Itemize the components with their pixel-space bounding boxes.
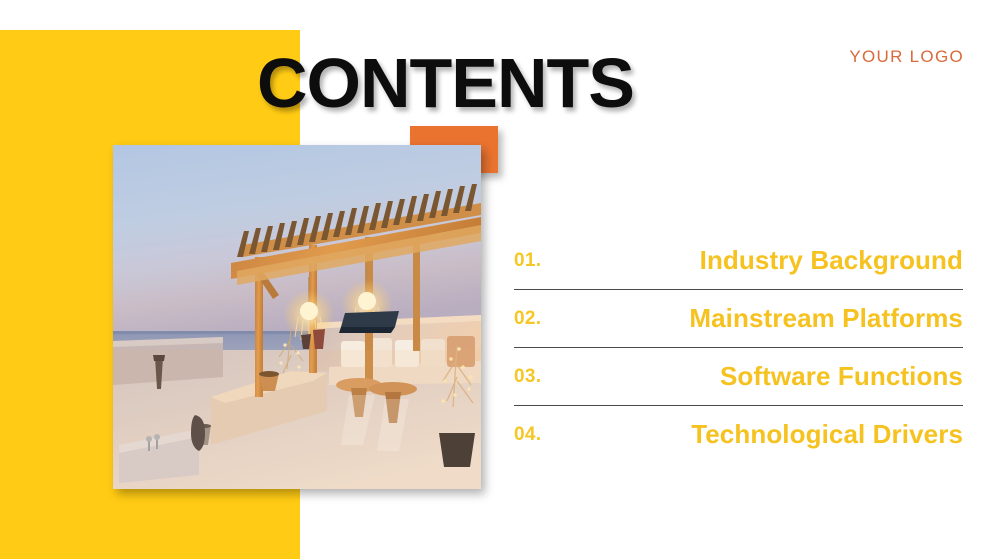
list-item[interactable]: 01. Industry Background: [514, 232, 963, 289]
list-item-label: Mainstream Platforms: [689, 303, 963, 334]
list-item[interactable]: 03. Software Functions: [514, 347, 963, 405]
page-title: CONTENTS: [257, 48, 634, 118]
list-item-number: 04.: [514, 424, 541, 446]
list-item-label: Industry Background: [700, 245, 963, 276]
list-item[interactable]: 02. Mainstream Platforms: [514, 289, 963, 347]
list-item-label: Software Functions: [720, 361, 963, 392]
list-item[interactable]: 04. Technological Drivers: [514, 405, 963, 463]
list-item-number: 01.: [514, 250, 541, 272]
logo-text: YOUR LOGO: [849, 47, 964, 67]
list-item-label: Technological Drivers: [691, 419, 963, 450]
contents-slide: CONTENTS YOUR LOGO 01. Industry Backgrou…: [0, 0, 993, 559]
rooftop-terrace-at-dusk-photo: [113, 145, 481, 489]
list-item-number: 02.: [514, 308, 541, 330]
list-item-number: 03.: [514, 366, 541, 388]
contents-list: 01. Industry Background 02. Mainstream P…: [514, 232, 963, 463]
